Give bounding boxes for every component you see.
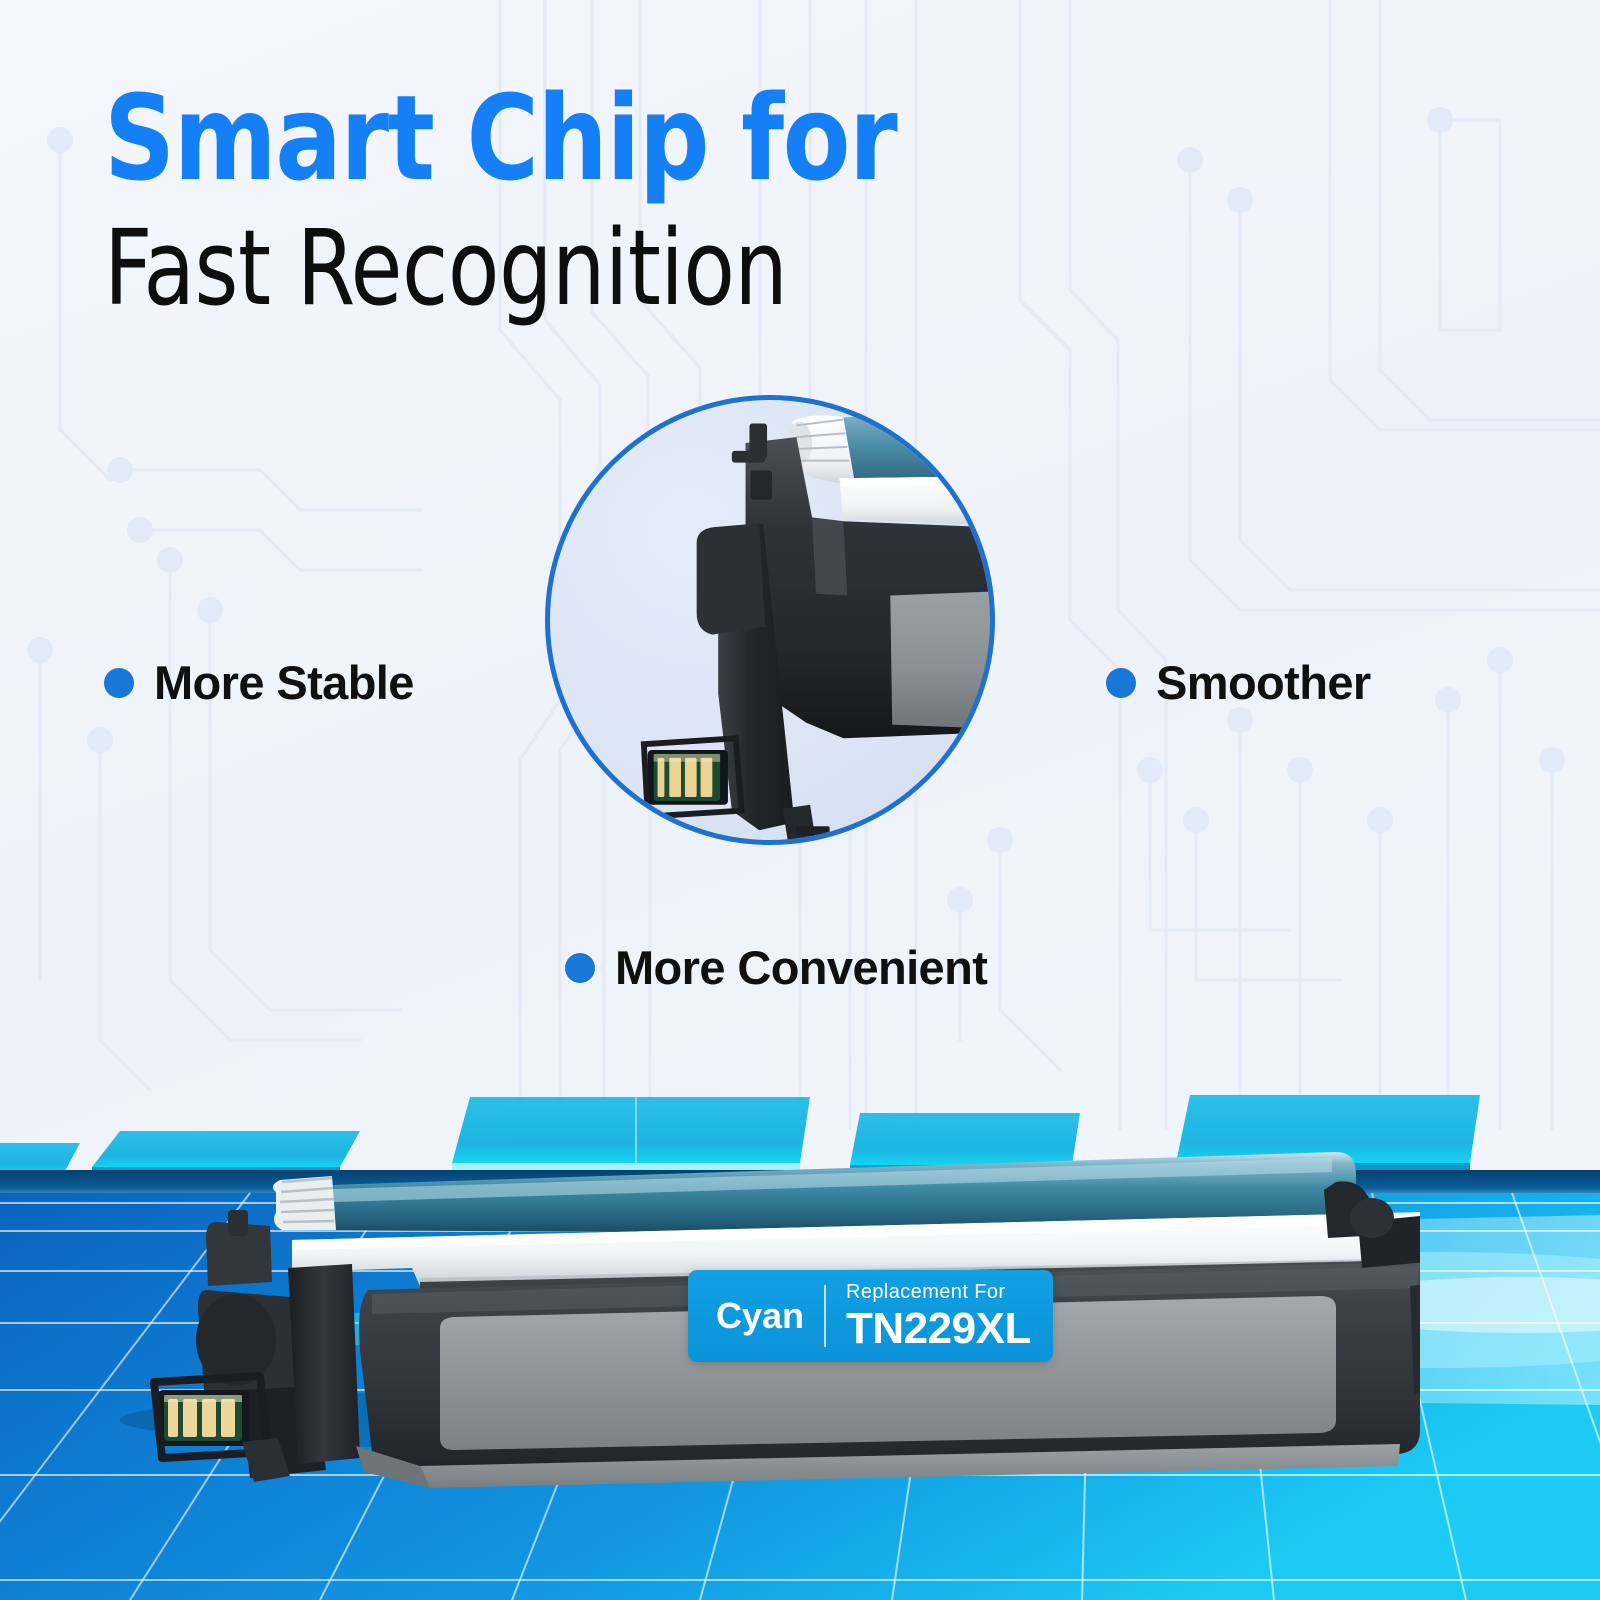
headline-block: Smart Chip for Fast Recognition bbox=[104, 78, 1104, 324]
blue-dot-icon bbox=[565, 953, 595, 983]
badge-color-name: Cyan bbox=[688, 1295, 804, 1337]
feature-label: Smoother bbox=[1156, 655, 1371, 710]
blue-dot-icon bbox=[1106, 668, 1136, 698]
feature-smoother: Smoother bbox=[1106, 655, 1371, 710]
smart-chip-on-cartridge bbox=[158, 1390, 250, 1446]
feature-more-stable: More Stable bbox=[104, 655, 414, 710]
smart-chip-magnified bbox=[648, 750, 728, 805]
feature-label: More Convenient bbox=[615, 940, 987, 995]
blue-dot-icon bbox=[104, 668, 134, 698]
feature-more-convenient: More Convenient bbox=[565, 940, 987, 995]
product-model-badge: Cyan Replacement For TN229XL bbox=[688, 1270, 1053, 1362]
headline-primary: Smart Chip for bbox=[104, 78, 1034, 198]
magnifier-circle-callout bbox=[545, 395, 995, 845]
left-gear-knob bbox=[273, 1176, 336, 1230]
headline-secondary: Fast Recognition bbox=[104, 214, 1004, 323]
badge-model-number: TN229XL bbox=[846, 1307, 1031, 1351]
magnified-chip-detail-image bbox=[550, 400, 990, 840]
feature-label: More Stable bbox=[154, 655, 414, 710]
badge-model-group: Replacement For TN229XL bbox=[846, 1282, 1031, 1351]
badge-replacement-label: Replacement For bbox=[846, 1282, 1031, 1302]
badge-divider bbox=[824, 1285, 826, 1347]
product-banner: Smart Chip for Fast Recognition bbox=[0, 0, 1600, 1600]
